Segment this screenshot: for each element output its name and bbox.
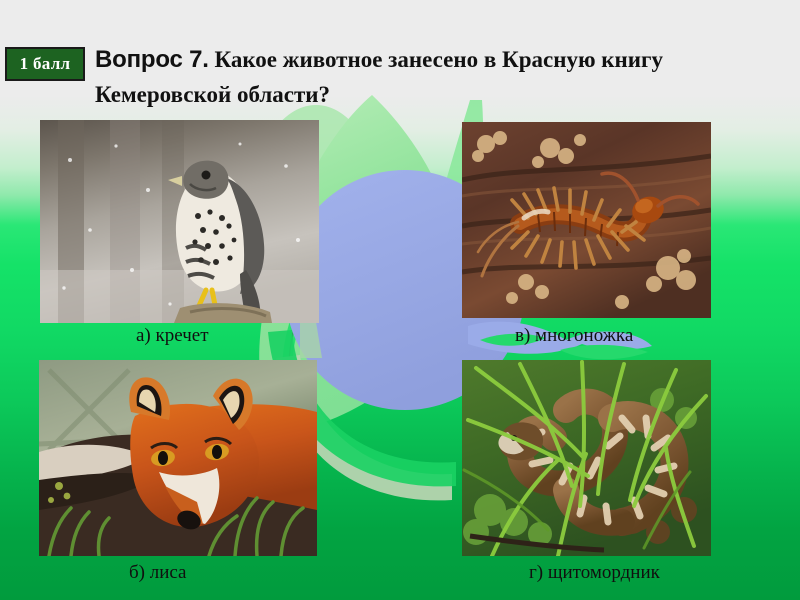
answer-label-v[interactable]: в) многоножка (515, 325, 633, 347)
quiz-slide: 1 балл Вопрос 7. Какое животное занесено… (0, 0, 800, 600)
vertical-stripe (300, 322, 322, 358)
centipede-photo[interactable] (462, 122, 711, 318)
fox-photo[interactable] (39, 360, 317, 556)
pit-viper-photo[interactable] (462, 360, 711, 556)
question-number: Вопрос 7. (95, 46, 209, 73)
centipede-image-content (462, 122, 711, 318)
answer-label-b[interactable]: б) лиса (129, 562, 187, 584)
answer-label-a[interactable]: а) кречет (136, 325, 209, 347)
fox-image-content (39, 360, 317, 556)
splash-leaf-a (560, 345, 648, 359)
score-badge: 1 балл (5, 47, 85, 81)
gyrfalcon-image-content (40, 120, 319, 323)
answer-label-g[interactable]: г) щитомордник (529, 562, 660, 584)
gyrfalcon-photo[interactable] (40, 120, 319, 323)
page-title: Вопрос 7. Какое животное занесено в Крас… (95, 42, 785, 112)
pit-viper-image-content (462, 360, 711, 556)
